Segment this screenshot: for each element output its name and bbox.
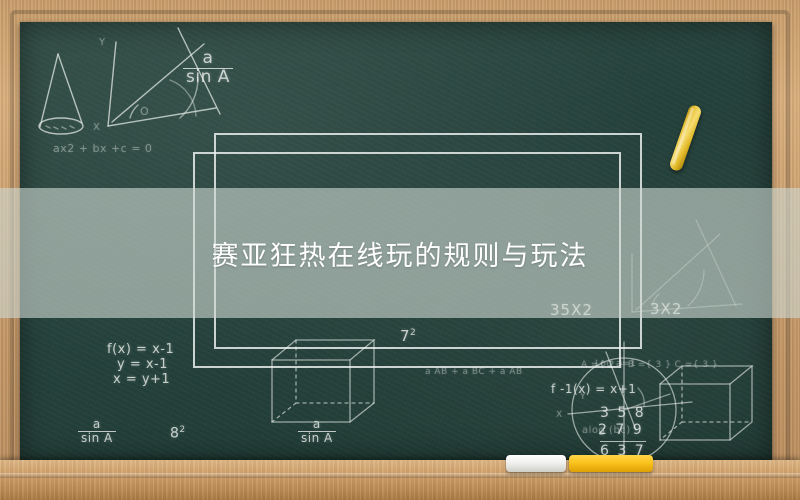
chalk-fx-line-1: f(x) = x-1	[107, 342, 174, 357]
chalk-fraction-a-over-sina: a sin A	[183, 50, 233, 87]
chalk-angle-label: O	[140, 105, 149, 118]
yellow-eraser	[569, 455, 653, 472]
chalk-small-equation: a AB + a BC + a AB	[425, 367, 523, 377]
white-eraser	[506, 455, 566, 472]
chalk-sum-row-1: 3 5 8	[600, 405, 646, 421]
chalk-function-block: f(x) = x-1 y = x-1 x = y+1	[107, 342, 174, 387]
chalk-fx-line-2: y = x-1	[107, 357, 174, 372]
chalk-inverse-function: f -1(x) = x+1	[551, 382, 636, 396]
chalk-sum-row-2: 2 7 9	[598, 422, 644, 438]
chalk-fraction-a-sina-left: a sin A	[78, 418, 116, 444]
chalk-fraction-a-sina-mid: a sin A	[298, 418, 336, 444]
chalk-ledge	[0, 460, 800, 500]
chalk-fx-line-3: x = y+1	[107, 372, 174, 387]
chalk-eight-exponent: 2	[179, 425, 185, 435]
page-title: 赛亚狂热在线玩的规则与玩法	[212, 234, 589, 273]
chalk-axis-y-label: Y	[99, 37, 106, 48]
chalk-circle-axis-x: X	[556, 410, 563, 420]
chalk-circle-axis-y: Y	[580, 392, 586, 402]
chalk-quadratic-equation: ax2 + bx +c = 0	[53, 142, 152, 155]
ledge-lip	[0, 473, 800, 478]
chalk-axis-x-label: X	[93, 122, 100, 133]
chalk-eight-power: 82	[170, 425, 186, 442]
chalkboard-banner: a sin A ax2 + bx +c = 0 Y X O f(x) = x-1…	[0, 0, 800, 500]
title-overlay-band: 赛亚狂热在线玩的规则与玩法	[0, 188, 800, 318]
